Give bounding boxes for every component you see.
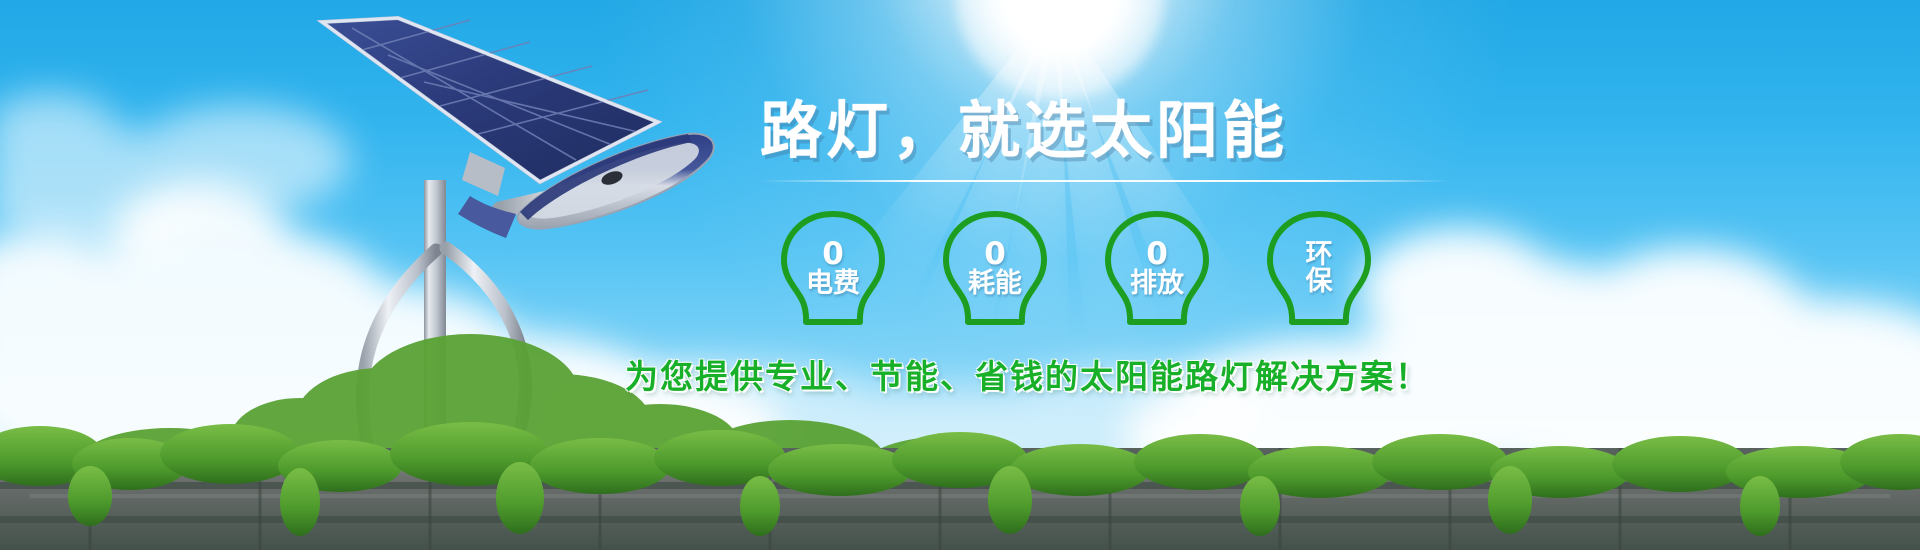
feature-bulb-list: 0 电费 0 耗能 0 排放 <box>774 208 1460 328</box>
feature-value: 环 <box>1306 241 1333 269</box>
feature-bulb-0: 0 电费 <box>774 208 892 328</box>
solar-street-light-banner: 路灯，就选太阳能 0 电费 0 耗能 <box>0 0 1920 550</box>
feature-bulb-3: 环 保 <box>1260 208 1378 328</box>
feature-label: 电费 <box>806 270 860 298</box>
copy-block: 路灯，就选太阳能 0 电费 0 耗能 <box>760 95 1460 398</box>
banner-headline: 路灯，就选太阳能 <box>760 95 1460 166</box>
feature-label: 保 <box>1306 268 1333 296</box>
headline-divider <box>760 180 1450 182</box>
feature-bulb-1: 0 耗能 <box>936 208 1054 328</box>
feature-label: 排放 <box>1130 270 1184 298</box>
feature-label: 耗能 <box>968 270 1022 298</box>
feature-value: 0 <box>822 239 844 271</box>
feature-value: 0 <box>1146 239 1168 271</box>
feature-bulb-2: 0 排放 <box>1098 208 1216 328</box>
feature-value: 0 <box>984 239 1006 271</box>
banner-tagline: 为您提供专业、节能、省钱的太阳能路灯解决方案！ <box>625 350 1460 398</box>
